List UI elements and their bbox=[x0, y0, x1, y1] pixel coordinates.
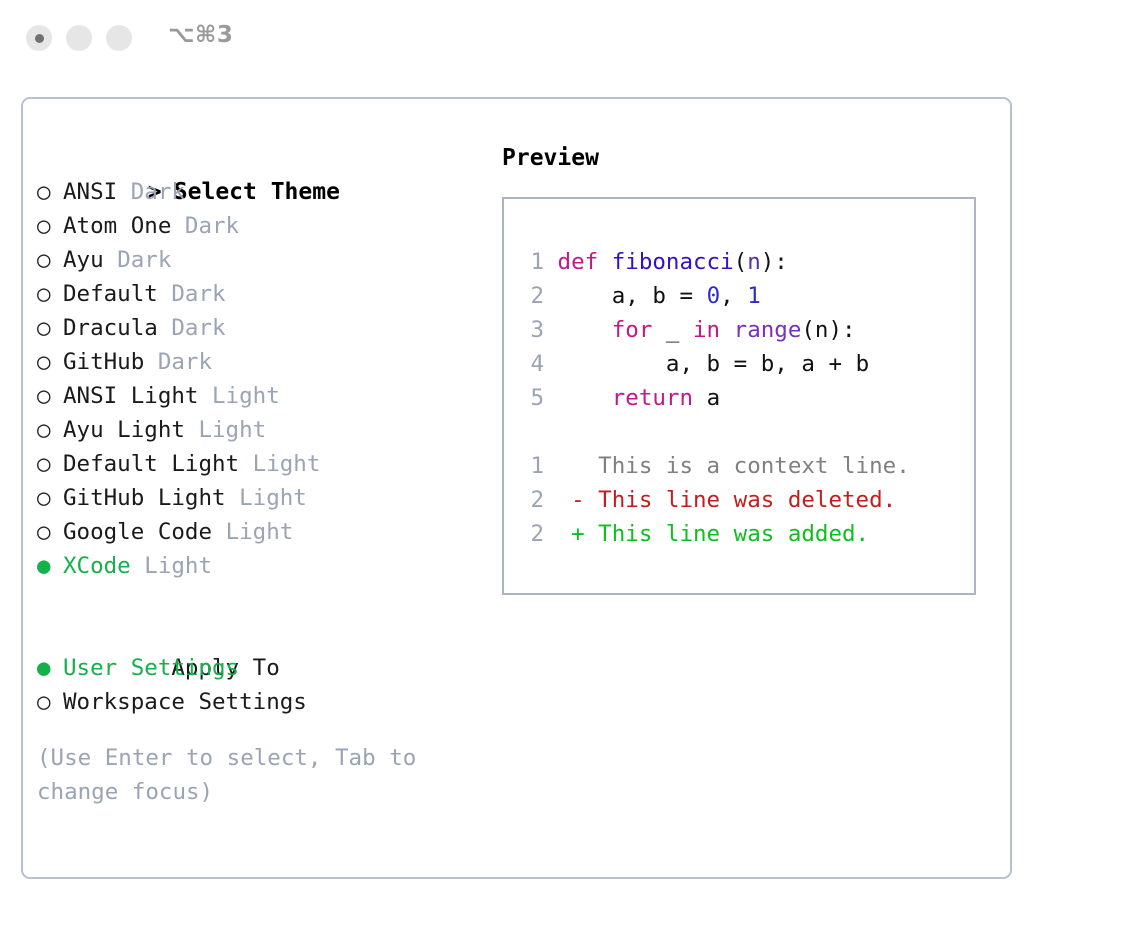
code-token: for bbox=[612, 317, 666, 343]
code-token: range bbox=[734, 317, 802, 343]
preview-pane: Preview 1 def fibonacci(n):2 a, b = 0, 1… bbox=[502, 141, 992, 595]
theme-name: ANSI bbox=[63, 179, 131, 205]
theme-variant-badge: Dark bbox=[131, 179, 185, 205]
radio-unselected-icon[interactable]: ○ bbox=[37, 175, 63, 209]
diff-line: 1 This is a context line. bbox=[520, 449, 910, 483]
theme-variant-badge: Dark bbox=[158, 349, 212, 375]
code-line-number: 5 bbox=[520, 381, 544, 415]
maximize-button-icon[interactable] bbox=[106, 25, 132, 51]
code-token: 1 bbox=[747, 283, 761, 309]
code-line-number: 4 bbox=[520, 347, 544, 381]
theme-variant-badge: Light bbox=[239, 485, 307, 511]
theme-name: Dracula bbox=[63, 315, 171, 341]
diff-line-number: 2 bbox=[520, 517, 544, 551]
app-window: ⌥⌘3 > Select Theme ○ANSI Dark○Atom One D… bbox=[0, 0, 1140, 934]
diff-line: 2 + This line was added. bbox=[520, 517, 910, 551]
theme-variant-badge: Dark bbox=[171, 281, 225, 307]
code-line: 2 a, b = 0, 1 bbox=[520, 279, 910, 313]
code-token: a, b = b, a + b bbox=[666, 351, 869, 377]
select-theme-title: Select Theme bbox=[174, 179, 340, 205]
theme-name: Atom One bbox=[63, 213, 185, 239]
list-spacer bbox=[37, 583, 477, 617]
main-panel: > Select Theme ○ANSI Dark○Atom One Dark○… bbox=[21, 97, 1012, 879]
apply-to-label: Workspace Settings bbox=[63, 689, 307, 715]
theme-variant-badge: Light bbox=[198, 417, 266, 443]
theme-list-item[interactable]: ○Atom One Dark bbox=[37, 209, 477, 243]
code-line: 4 a, b = b, a + b bbox=[520, 347, 910, 381]
code-token: def bbox=[558, 249, 612, 275]
theme-variant-badge: Dark bbox=[171, 315, 225, 341]
code-indent bbox=[544, 317, 612, 343]
code-token: n bbox=[747, 249, 761, 275]
radio-selected-icon[interactable]: ● bbox=[37, 651, 63, 685]
diff-line-number: 1 bbox=[520, 449, 544, 483]
minimize-button-icon[interactable] bbox=[66, 25, 92, 51]
theme-list-item[interactable]: ○ANSI Light Light bbox=[37, 379, 477, 413]
code-indent bbox=[544, 351, 666, 377]
window-controls bbox=[26, 25, 132, 51]
close-button-icon[interactable] bbox=[26, 25, 52, 51]
theme-variant-badge: Dark bbox=[117, 247, 171, 273]
code-indent bbox=[544, 249, 558, 275]
radio-unselected-icon[interactable]: ○ bbox=[37, 515, 63, 549]
theme-list-item[interactable]: ○Ayu Light Light bbox=[37, 413, 477, 447]
radio-unselected-icon[interactable]: ○ bbox=[37, 345, 63, 379]
keyboard-hint-text: (Use Enter to select, Tab to change focu… bbox=[37, 741, 447, 809]
code-token: ( bbox=[734, 249, 748, 275]
code-token: return bbox=[612, 385, 707, 411]
code-token: _ bbox=[666, 317, 693, 343]
code-indent bbox=[544, 385, 612, 411]
theme-name: Google Code bbox=[63, 519, 226, 545]
radio-selected-icon[interactable]: ● bbox=[37, 549, 63, 583]
theme-list-item[interactable]: ○Default Light Light bbox=[37, 447, 477, 481]
code-line-number: 3 bbox=[520, 313, 544, 347]
code-token: , bbox=[720, 283, 747, 309]
theme-variant-badge: Light bbox=[226, 519, 294, 545]
theme-selector-pane: > Select Theme ○ANSI Dark○Atom One Dark○… bbox=[37, 141, 477, 809]
theme-list: ○ANSI Dark○Atom One Dark○Ayu Dark○Defaul… bbox=[37, 175, 477, 583]
theme-name: Ayu Light bbox=[63, 417, 198, 443]
code-line: 3 for _ in range(n): bbox=[520, 313, 910, 347]
keyboard-shortcut-label: ⌥⌘3 bbox=[168, 22, 233, 48]
diff-line: 2 - This line was deleted. bbox=[520, 483, 910, 517]
theme-list-item[interactable]: ○GitHub Dark bbox=[37, 345, 477, 379]
theme-name: Default bbox=[63, 281, 171, 307]
active-indicator-dot bbox=[35, 34, 44, 43]
diff-line-text: + This line was added. bbox=[544, 521, 869, 547]
preview-title: Preview bbox=[502, 141, 992, 175]
code-token: a bbox=[707, 385, 721, 411]
preview-box: 1 def fibonacci(n):2 a, b = 0, 13 for _ … bbox=[502, 197, 976, 595]
apply-to-label: User Settings bbox=[63, 655, 239, 681]
radio-unselected-icon[interactable]: ○ bbox=[37, 311, 63, 345]
theme-name: GitHub Light bbox=[63, 485, 239, 511]
theme-list-item[interactable]: ○Default Dark bbox=[37, 277, 477, 311]
code-line: 5 return a bbox=[520, 381, 910, 415]
theme-list-item[interactable]: ○Dracula Dark bbox=[37, 311, 477, 345]
code-token: ): bbox=[761, 249, 788, 275]
code-diff-spacer bbox=[520, 415, 910, 449]
code-indent bbox=[544, 283, 612, 309]
theme-name: ANSI Light bbox=[63, 383, 212, 409]
radio-unselected-icon[interactable]: ○ bbox=[37, 481, 63, 515]
code-token: (n): bbox=[801, 317, 855, 343]
apply-to-option[interactable]: ○Workspace Settings bbox=[37, 685, 477, 719]
theme-variant-badge: Light bbox=[253, 451, 321, 477]
theme-name: XCode bbox=[63, 553, 144, 579]
code-line: 1 def fibonacci(n): bbox=[520, 245, 910, 279]
theme-list-item[interactable]: ○GitHub Light Light bbox=[37, 481, 477, 515]
apply-to-header: Apply To bbox=[37, 617, 477, 651]
radio-unselected-icon[interactable]: ○ bbox=[37, 277, 63, 311]
theme-variant-badge: Dark bbox=[185, 213, 239, 239]
radio-unselected-icon[interactable]: ○ bbox=[37, 209, 63, 243]
diff-line-number: 2 bbox=[520, 483, 544, 517]
theme-list-item[interactable]: ○Ayu Dark bbox=[37, 243, 477, 277]
code-preview-area: 1 def fibonacci(n):2 a, b = 0, 13 for _ … bbox=[520, 245, 910, 551]
radio-unselected-icon[interactable]: ○ bbox=[37, 413, 63, 447]
radio-unselected-icon[interactable]: ○ bbox=[37, 379, 63, 413]
radio-unselected-icon[interactable]: ○ bbox=[37, 447, 63, 481]
title-bar: ⌥⌘3 bbox=[0, 0, 1140, 78]
theme-name: Default Light bbox=[63, 451, 253, 477]
code-token: a, b = bbox=[612, 283, 707, 309]
code-token: in bbox=[693, 317, 734, 343]
theme-name: GitHub bbox=[63, 349, 158, 375]
theme-name: Ayu bbox=[63, 247, 117, 273]
code-token: 0 bbox=[707, 283, 721, 309]
theme-variant-badge: Light bbox=[144, 553, 212, 579]
radio-unselected-icon[interactable]: ○ bbox=[37, 685, 63, 719]
theme-variant-badge: Light bbox=[212, 383, 280, 409]
theme-list-item[interactable]: ●XCode Light bbox=[37, 549, 477, 583]
theme-list-item[interactable]: ○Google Code Light bbox=[37, 515, 477, 549]
select-theme-header: > Select Theme bbox=[37, 141, 477, 175]
radio-unselected-icon[interactable]: ○ bbox=[37, 243, 63, 277]
code-line-number: 2 bbox=[520, 279, 544, 313]
code-token: fibonacci bbox=[612, 249, 734, 275]
diff-line-text: This is a context line. bbox=[544, 453, 910, 479]
code-line-number: 1 bbox=[520, 245, 544, 279]
diff-line-text: - This line was deleted. bbox=[544, 487, 896, 513]
